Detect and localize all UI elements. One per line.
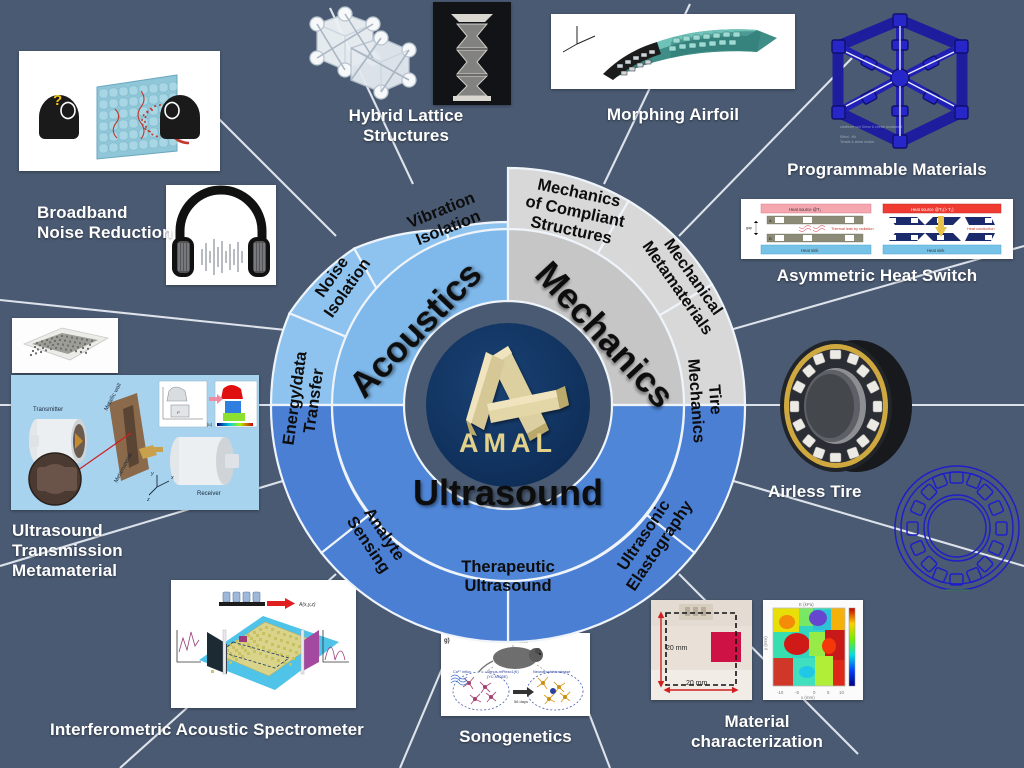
svg-text:Therapeutic: Therapeutic <box>461 558 555 576</box>
pillar-label-ultrasound: Ultrasound <box>413 472 603 513</box>
svg-text:Ultrasound: Ultrasound <box>464 577 551 595</box>
amal-logo-text: AMAL <box>459 428 557 458</box>
sector-label-therapeutic-ultrasound: Therapeutic Ultrasound <box>461 558 555 595</box>
svg-text:Tire: Tire <box>705 384 725 415</box>
research-wheel: AMAL Acoustics Mechanics Ultrasound Vibr… <box>0 0 1024 768</box>
infographic-canvas: ? <box>0 0 1024 768</box>
wheel-hub: AMAL <box>426 323 590 487</box>
